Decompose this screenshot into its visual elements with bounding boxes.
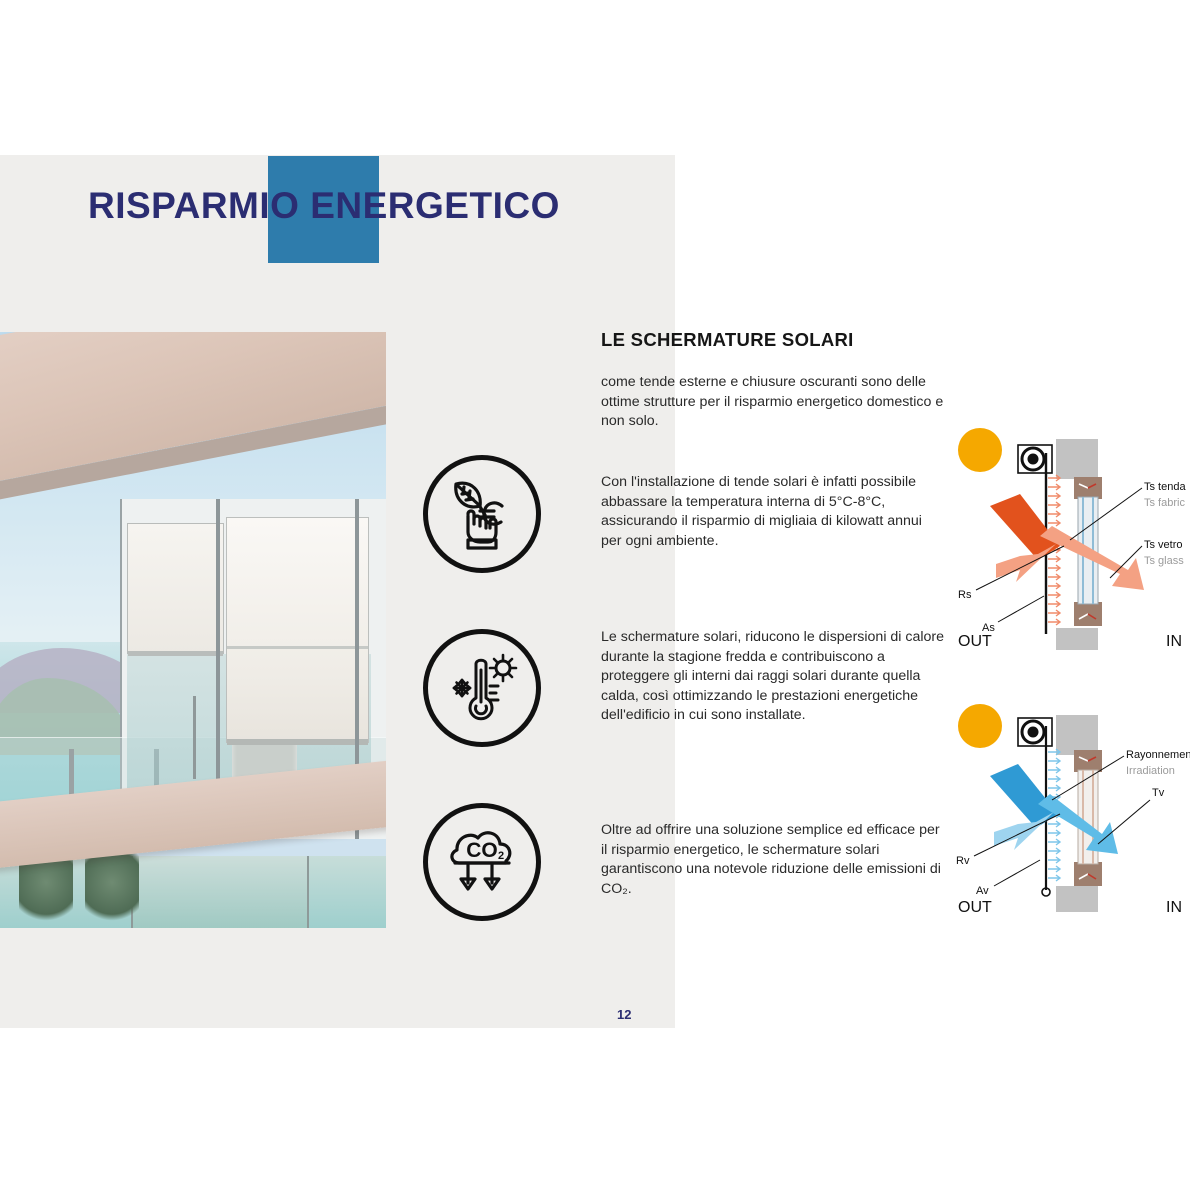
roller-core [1028, 454, 1039, 465]
page-number: 12 [617, 1007, 631, 1022]
label-ts-glass: Ts glass [1144, 555, 1184, 567]
paragraph-co2: Oltre ad offrire una soluzione semplice … [601, 821, 946, 899]
wall-top [1056, 439, 1098, 479]
sun-icon [958, 428, 1002, 472]
leader-av [994, 860, 1040, 886]
label-in: IN [1166, 633, 1182, 650]
roller-core [1028, 727, 1039, 738]
light-diagram-svg: Rv Av Rayonnement Irradiation Tv OUT IN [952, 694, 1190, 922]
paragraph-intro: come tende esterne e chiusure oscuranti … [601, 373, 946, 432]
leader-tv [1098, 800, 1150, 844]
hero-photo [0, 332, 386, 928]
label-irradiation: Irradiation [1126, 765, 1175, 777]
hand-plant-euro-icon [423, 455, 541, 573]
co2-label: CO [466, 839, 498, 862]
label-rv: Rv [956, 855, 970, 867]
brochure-page: RISPARMIO ENERGETICO [0, 0, 1200, 1200]
thermometer-snowflake-sun-icon [423, 629, 541, 747]
wall-bottom [1056, 628, 1098, 650]
label-ts-fabric: Ts fabric [1144, 497, 1185, 509]
label-out: OUT [958, 633, 992, 650]
photo-roller-blind-left [127, 523, 224, 654]
sun-icon [958, 704, 1002, 748]
label-rayonnement: Rayonnement [1126, 749, 1190, 761]
paragraph-temperature: Con l'installazione di tende solari è in… [601, 473, 946, 551]
label-tv: Tv [1152, 787, 1165, 799]
solar-shading-heat-diagram: Rs As Ts tenda Ts fabric Ts vetro Ts gla… [952, 418, 1190, 650]
label-in: IN [1166, 899, 1182, 916]
label-ts-tenda: Ts tenda [1144, 481, 1186, 493]
co2-cloud-down-arrows-icon: CO 2 [423, 803, 541, 921]
eco-savings-glyph [438, 470, 526, 558]
section-heading: LE SCHERMATURE SOLARI [601, 329, 854, 351]
paragraph-performance: Le schermature solari, riducono le dispe… [601, 628, 946, 726]
co2-subscript: 2 [498, 850, 504, 862]
label-out: OUT [958, 899, 992, 916]
temperature-glyph [438, 644, 526, 732]
heat-diagram-svg: Rs As Ts tenda Ts fabric Ts vetro Ts gla… [952, 418, 1190, 650]
label-rs: Rs [958, 589, 972, 601]
wall-top [1056, 715, 1098, 755]
photo-tap [193, 696, 196, 779]
photo-roller-blind-right [226, 517, 369, 743]
leader-as [998, 596, 1044, 622]
page-title: RISPARMIO ENERGETICO [88, 185, 560, 227]
label-ts-vetro: Ts vetro [1144, 539, 1183, 551]
wall-bottom [1056, 886, 1098, 912]
co2-reduction-glyph: CO 2 [437, 817, 527, 907]
solar-shading-light-diagram: Rv Av Rayonnement Irradiation Tv OUT IN [952, 694, 1190, 922]
photo-lower-window [131, 856, 309, 928]
label-av: Av [976, 885, 989, 897]
